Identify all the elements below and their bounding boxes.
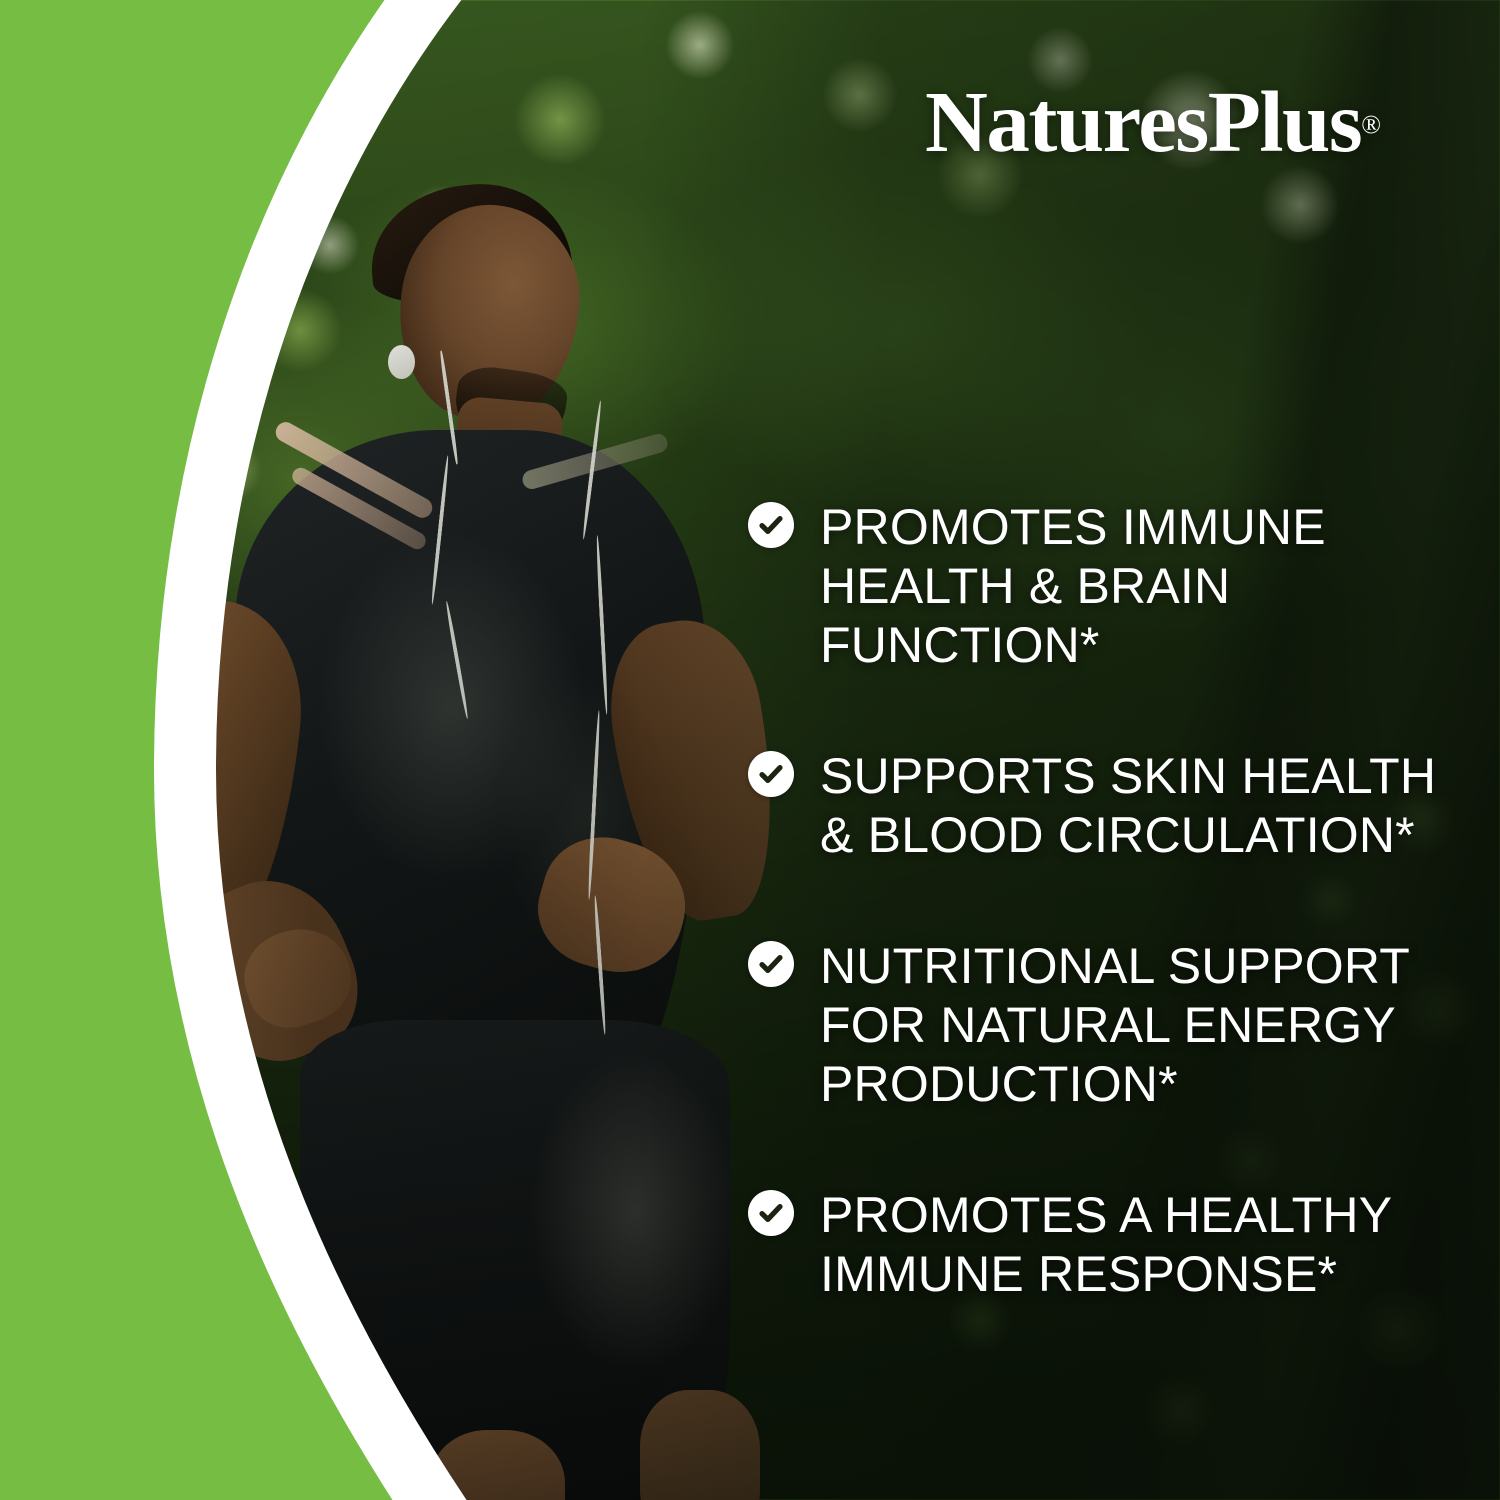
benefit-label: SUPPORTS SKIN HEALTH & BLOOD CIRCULATION… (820, 747, 1448, 865)
brand-logo-text: NaturesPlus (925, 73, 1361, 170)
benefit-item: PROMOTES IMMUNE HEALTH & BRAIN FUNCTION* (748, 498, 1448, 675)
benefit-item: PROMOTES A HEALTHY IMMUNE RESPONSE* (748, 1186, 1448, 1304)
benefit-item: SUPPORTS SKIN HEALTH & BLOOD CIRCULATION… (748, 747, 1448, 865)
check-circle-icon (748, 941, 794, 987)
registered-trademark-symbol: ® (1361, 110, 1381, 139)
check-circle-icon (748, 751, 794, 797)
benefit-label: PROMOTES A HEALTHY IMMUNE RESPONSE* (820, 1186, 1448, 1304)
benefit-label: NUTRITIONAL SUPPORT FOR NATURAL ENERGY P… (820, 937, 1448, 1114)
check-circle-icon (748, 502, 794, 548)
benefit-item: NUTRITIONAL SUPPORT FOR NATURAL ENERGY P… (748, 937, 1448, 1114)
benefits-list: PROMOTES IMMUNE HEALTH & BRAIN FUNCTION*… (748, 498, 1448, 1304)
benefit-label: PROMOTES IMMUNE HEALTH & BRAIN FUNCTION* (820, 498, 1448, 675)
check-circle-icon (748, 1190, 794, 1236)
product-benefits-banner: NaturesPlus® PROMOTES IMMUNE HEALTH & BR… (0, 0, 1500, 1500)
brand-logo: NaturesPlus® (925, 78, 1381, 165)
